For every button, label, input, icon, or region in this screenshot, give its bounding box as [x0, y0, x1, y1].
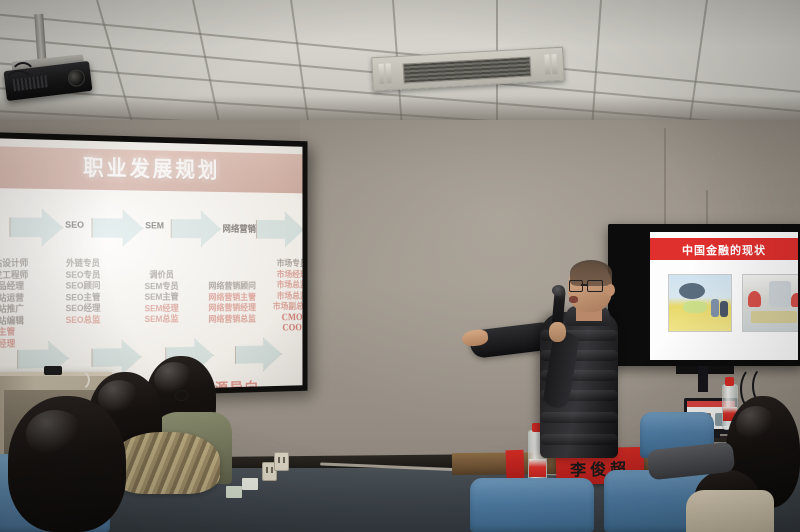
flow-arrow-icon-1 — [9, 208, 63, 246]
projector-lens-icon — [67, 69, 86, 88]
flow-arrow-icon-3 — [171, 210, 221, 247]
slide-column-network-marketing: 网络营销顾问 网络营销主管 网络营销经理 网络营销总监 — [199, 281, 264, 325]
wall-outlet-icon-2 — [274, 452, 289, 471]
slide-column-sem: 调价员 SEM专员 SEM主管 SEM经理 SEM总监 — [132, 270, 190, 326]
chair-2 — [470, 478, 594, 532]
wall-monitor: 中国金融的现状 — [608, 224, 800, 366]
nameplate-secondary — [505, 450, 524, 481]
fur-collar — [112, 432, 220, 494]
lecture-hall-photo: 职业发展规划 SEO SEM 网络营销 市场营销 网站设计师 开发工程师 — [0, 0, 800, 532]
slide-column-seo: 外链专员 SEO专员 SEO顾问 SEO主管 SEO经理 SEO总监 — [52, 258, 114, 326]
flow-arrow-icon-4 — [256, 211, 303, 247]
flow-label-1: SEO — [65, 220, 84, 231]
slide-column-market: 市场专员 市场经理 市场总监 市场总监 市场副总监 CMO COO — [265, 258, 303, 334]
monitor-illustration-1 — [668, 274, 732, 332]
wall-seam — [664, 128, 666, 238]
presenter-mic-hand — [549, 322, 566, 342]
process-arrow-row: SEO SEM 网络营销 市场营销 — [0, 202, 302, 251]
flow-arrow-icon-8 — [235, 337, 282, 372]
notebook — [226, 486, 242, 498]
monitor-illustration-2 — [742, 274, 798, 332]
eyeglasses-icon-left — [569, 280, 583, 292]
flow-arrow-icon-2 — [92, 209, 144, 246]
presenter-mouth — [569, 296, 578, 303]
eyeglasses-icon-attendee — [175, 390, 188, 401]
flow-label-3: 网络营销 — [223, 221, 256, 235]
lectern-device-icon — [44, 366, 62, 375]
eyeglasses-icon-right — [587, 280, 603, 292]
flow-label-2: SEM — [145, 221, 164, 232]
microphone-head-icon — [552, 285, 565, 296]
wall-monitor-screen: 中国金融的现状 — [650, 232, 798, 360]
presenter-ear — [606, 284, 615, 296]
monitor-slide-title: 中国金融的现状 — [650, 242, 798, 258]
notebook-2 — [242, 478, 258, 490]
slide-body: SEO SEM 网络营销 市场营销 网站设计师 开发工程师 产品经理 网站运营 … — [0, 188, 302, 394]
eyeglasses-bridge — [581, 284, 587, 286]
projector-cable-2 — [10, 62, 36, 92]
attendee-hair-1 — [8, 396, 126, 532]
projection-screen-frame: 职业发展规划 SEO SEM 网络营销 市场营销 网站设计师 开发工程师 — [0, 132, 308, 400]
flow-arrow-icon-6 — [92, 339, 142, 375]
projection-screen: 职业发展规划 SEO SEM 网络营销 市场营销 网站设计师 开发工程师 — [0, 138, 302, 394]
monitor-stand-pole — [698, 366, 708, 392]
lectern-cable — [60, 368, 90, 392]
monitor-slide-title-band: 中国金融的现状 — [650, 238, 798, 260]
light-garment — [686, 490, 774, 532]
